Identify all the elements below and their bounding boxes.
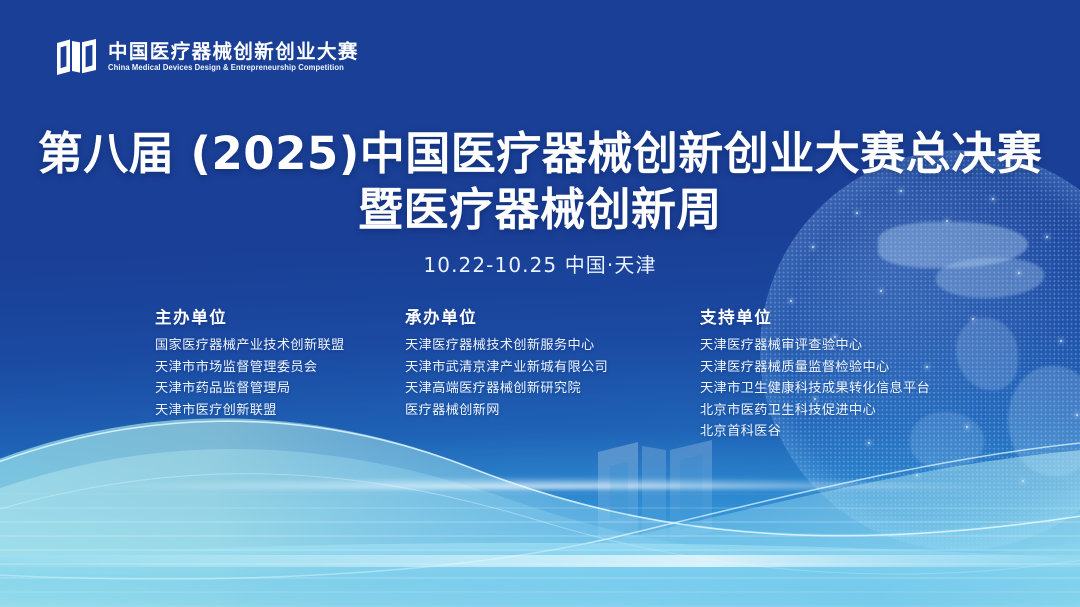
- org-column-heading: 主办单位: [155, 304, 345, 328]
- org-item: 天津市卫生健康科技成果转化信息平台: [700, 378, 930, 400]
- org-column-heading: 支持单位: [700, 304, 930, 328]
- org-item: 天津医疗器械质量监督检验中心: [700, 357, 930, 379]
- brand-name-cn: 中国医疗器械创新创业大赛: [108, 42, 362, 62]
- title-line-2: 暨医疗器械创新周: [0, 182, 1080, 238]
- org-item: 天津市武清京津产业新城有限公司: [405, 357, 608, 379]
- poster-canvas: 中国医疗器械创新创业大赛 China Medical Devices Desig…: [0, 0, 1080, 607]
- org-column-supporters: 支持单位 天津医疗器械审评查验中心 天津医疗器械质量监督检验中心 天津市卫生健康…: [700, 304, 930, 443]
- brand-text: 中国医疗器械创新创业大赛 China Medical Devices Desig…: [108, 42, 362, 72]
- org-item: 北京首科医谷: [700, 421, 930, 443]
- org-item: 天津医疗器械审评查验中心: [700, 335, 930, 357]
- org-item: 天津市医疗创新联盟: [155, 400, 345, 422]
- brand-name-en: China Medical Devices Design & Entrepren…: [108, 64, 344, 72]
- org-item: 天津高端医疗器械创新研究院: [405, 378, 608, 400]
- title-line-1: 第八届 (2025)中国医疗器械创新创业大赛总决赛: [0, 126, 1080, 182]
- horizon-glow: [0, 463, 1080, 489]
- water-ripple-lines: [0, 487, 1080, 607]
- org-column-heading: 承办单位: [405, 304, 608, 328]
- org-column-organizers: 主办单位 国家医疗器械产业技术创新联盟 天津市市场监督管理委员会 天津市药品监督…: [155, 304, 345, 421]
- page-title: 第八届 (2025)中国医疗器械创新创业大赛总决赛 暨医疗器械创新周: [0, 126, 1080, 238]
- event-date-location: 10.22-10.25 中国·天津: [0, 249, 1080, 278]
- organizations-section: 主办单位 国家医疗器械产业技术创新联盟 天津市市场监督管理委员会 天津市药品监督…: [0, 304, 1080, 444]
- brand-logo[interactable]: 中国医疗器械创新创业大赛 China Medical Devices Desig…: [56, 38, 362, 76]
- open-door-book-icon: [56, 38, 97, 76]
- org-item: 天津市药品监督管理局: [155, 378, 345, 400]
- org-item: 国家医疗器械产业技术创新联盟: [155, 335, 345, 357]
- org-item: 医疗器械创新网: [405, 400, 608, 422]
- org-column-hosts: 承办单位 天津医疗器械技术创新服务中心 天津市武清京津产业新城有限公司 天津高端…: [405, 304, 608, 421]
- org-item: 天津医疗器械技术创新服务中心: [405, 335, 608, 357]
- org-item: 北京市医药卫生科技促进中心: [700, 400, 930, 422]
- org-item: 天津市市场监督管理委员会: [155, 357, 345, 379]
